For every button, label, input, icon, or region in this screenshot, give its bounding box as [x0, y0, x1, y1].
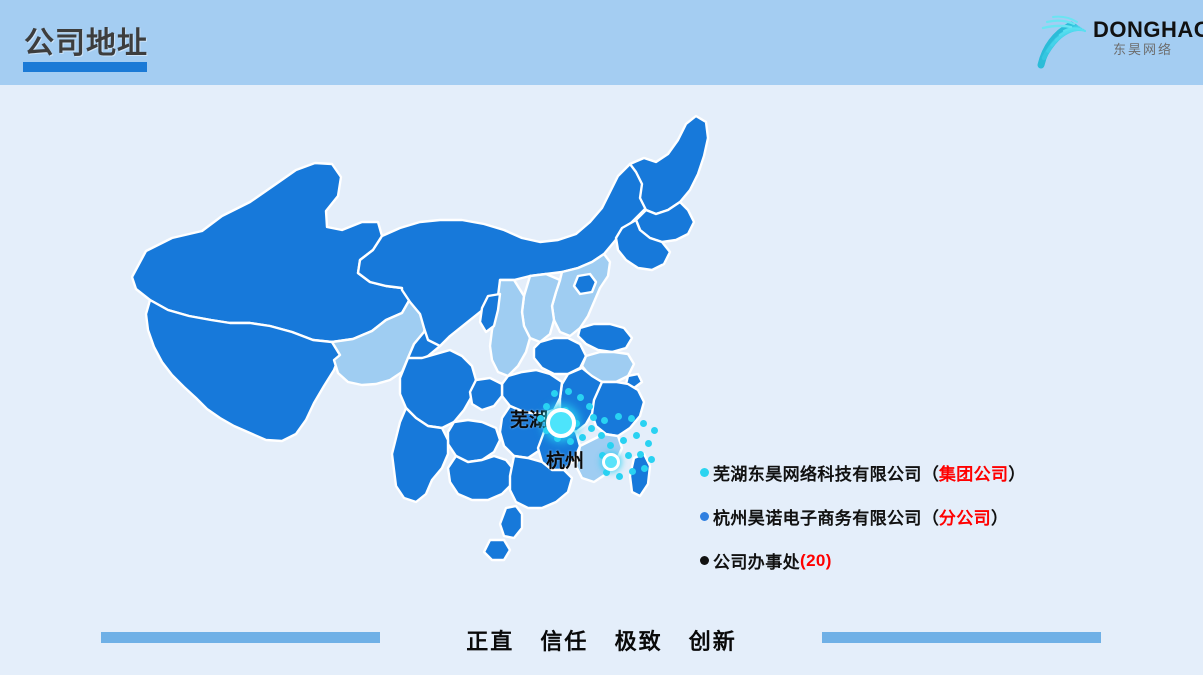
office-marker-dot [543, 403, 550, 410]
office-marker-dot [625, 452, 632, 459]
office-marker-dot [598, 432, 605, 439]
province-heilongjiang [630, 116, 708, 214]
office-marker-dot [651, 427, 658, 434]
legend-paren-close: ） [991, 504, 1008, 529]
slogan-word-3: 极致 [615, 629, 663, 654]
office-marker-dot [633, 432, 640, 439]
office-marker-dot [637, 451, 644, 458]
page-title: 公司地址 [24, 18, 148, 62]
province-shandong [578, 324, 632, 352]
legend-tag: 集团公司 [939, 460, 1009, 485]
title-underline-bar [23, 62, 147, 72]
slogan-word-2: 信任 [540, 629, 588, 654]
province-zhejiang [592, 382, 644, 436]
feather-wing-icon [1031, 8, 1097, 74]
office-marker-dot [616, 473, 623, 480]
legend-paren-close: ） [1008, 460, 1025, 485]
office-marker-dot [577, 394, 584, 401]
office-marker-dot [588, 425, 595, 432]
office-marker-dot [551, 390, 558, 397]
legend-paren-open: （ [922, 504, 939, 529]
office-marker-dot [607, 442, 614, 449]
office-marker-dot [641, 465, 648, 472]
legend-company-name: 杭州昊诺电子商务有限公司 [713, 504, 922, 529]
slogan-word-1: 正直 [466, 629, 514, 654]
province-hainan [500, 506, 522, 538]
logo-name-en: DONGHAO [1093, 18, 1193, 41]
office-marker-dot [601, 417, 608, 424]
legend-bullet-icon [700, 512, 709, 521]
province-guangxi [448, 456, 514, 500]
office-marker-dot [640, 420, 647, 427]
office-marker-dot [567, 438, 574, 445]
slide-header: 公司地址 DONGHAO 东昊网络 [0, 0, 1203, 85]
legend-paren-open: （ [922, 460, 939, 485]
legend-office-count: 20 [806, 551, 826, 571]
province-chongqing [470, 378, 502, 410]
slogan-word-4: 创新 [689, 629, 737, 654]
branch-marker [602, 453, 620, 471]
legend-item-branch: 杭州昊诺电子商务有限公司 （ 分公司 ） [700, 504, 1170, 529]
headquarters-marker [546, 408, 576, 438]
office-marker-dot [615, 413, 622, 420]
map-label-hangzhou: 杭州 [546, 446, 584, 473]
legend-bullet-icon [700, 556, 709, 565]
legend-item-headquarters: 芜湖东昊网络科技有限公司 （ 集团公司 ） [700, 460, 1170, 485]
office-marker-dot [645, 440, 652, 447]
logo-name-cn: 东昊网络 [1093, 41, 1193, 59]
china-map-container: 芜湖 杭州 [110, 110, 710, 610]
office-marker-dot [537, 415, 544, 422]
legend-bullet-icon [700, 468, 709, 477]
legend-tag: 分公司 [939, 504, 991, 529]
legend: 芜湖东昊网络科技有限公司 （ 集团公司 ） 杭州昊诺电子商务有限公司 （ 分公司… [700, 460, 1170, 592]
footer-slogan: 正直 信任 极致 创新 [0, 624, 1203, 656]
province-hainan-island [484, 540, 510, 560]
office-marker-dot [628, 415, 635, 422]
office-marker-dot [586, 403, 593, 410]
office-marker-dot [620, 437, 627, 444]
legend-office-label: 公司办事处 [713, 548, 800, 573]
office-marker-dot [648, 456, 655, 463]
office-marker-dot [629, 468, 636, 475]
province-beijing [574, 274, 596, 294]
province-taiwan [630, 454, 650, 496]
legend-item-offices: 公司办事处 ( 20 ) [700, 548, 1170, 573]
legend-company-name: 芜湖东昊网络科技有限公司 [713, 460, 922, 485]
office-marker-dot [579, 434, 586, 441]
office-marker-dot [590, 414, 597, 421]
company-logo: DONGHAO 东昊网络 [1031, 6, 1191, 76]
office-marker-dot [565, 388, 572, 395]
legend-paren-close: ) [826, 551, 832, 571]
china-map-icon [110, 110, 710, 610]
